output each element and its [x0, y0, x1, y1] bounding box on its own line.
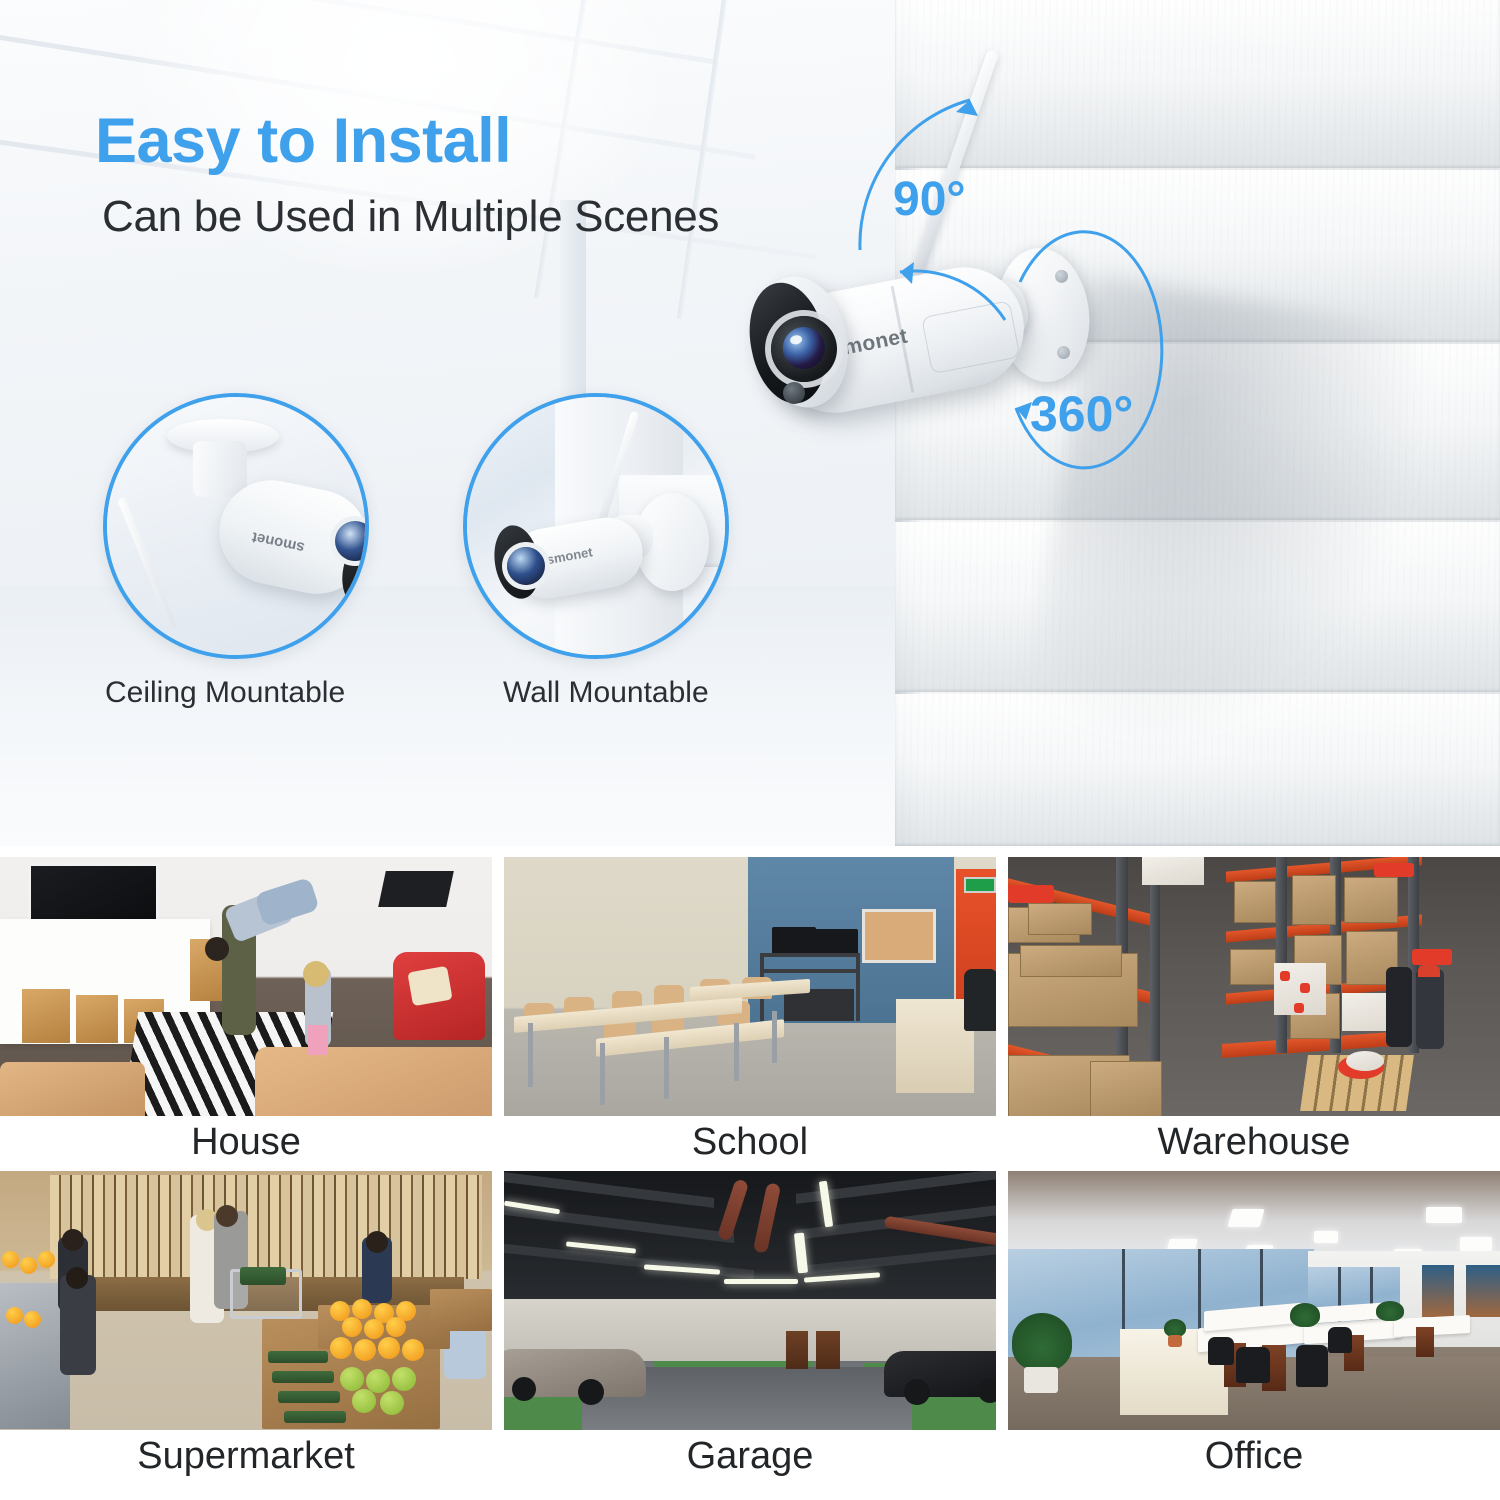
shopper-head: [366, 1231, 388, 1253]
scene-label-office: Office: [1008, 1430, 1500, 1482]
door: [786, 1331, 808, 1369]
scene-photo-school: [504, 857, 996, 1116]
office-chair: [1236, 1347, 1270, 1383]
scene-card-office: Office: [1008, 1171, 1500, 1482]
potted-plant: [1376, 1301, 1404, 1321]
scene-grid: House: [0, 846, 1500, 1500]
bulk-dispenser-wall: [50, 1175, 482, 1279]
mount-stem: [193, 441, 247, 497]
scene-photo-supermarket: [0, 1171, 492, 1430]
person-head: [205, 937, 229, 961]
door: [816, 1331, 840, 1369]
scene-photo-house: [0, 857, 492, 1116]
wall-art: [1422, 1265, 1454, 1317]
ir-sensor-icon: [783, 382, 805, 404]
child-head: [303, 961, 329, 987]
shopper-head: [66, 1267, 88, 1289]
rotation-angle-label: 360°: [1030, 385, 1133, 443]
scene-photo-office: [1008, 1171, 1500, 1430]
scene-label-school: School: [504, 1116, 996, 1168]
office-chair: [1296, 1345, 1328, 1387]
scene-label-garage: Garage: [504, 1430, 996, 1482]
lens-glass: [507, 547, 545, 585]
shopper-head: [216, 1205, 238, 1227]
office-chair: [1328, 1327, 1352, 1353]
shopper-head: [62, 1229, 84, 1251]
planter: [1024, 1367, 1058, 1393]
potted-plant: [1012, 1313, 1072, 1371]
worker: [1386, 967, 1412, 1047]
worker-cap: [1418, 965, 1440, 977]
scene-label-supermarket: Supermarket: [0, 1430, 492, 1482]
scene-label-house: House: [0, 1116, 492, 1168]
lens-glass: [335, 521, 369, 561]
sofa: [255, 1047, 492, 1116]
worker: [1416, 969, 1444, 1049]
scene-card-school: School: [504, 857, 996, 1168]
wall-art: [1466, 1265, 1500, 1317]
ottoman: [0, 1062, 145, 1116]
scene-photo-warehouse: [1008, 857, 1500, 1116]
brand-logo: smonet: [546, 544, 594, 567]
headline-block: Easy to Install Can be Used in Multiple …: [95, 110, 719, 239]
produce-bin: [430, 1289, 492, 1331]
monitor: [772, 927, 816, 955]
office-chair: [1208, 1337, 1234, 1365]
scene-card-garage: Garage: [504, 1171, 996, 1482]
child-shorts: [308, 1025, 328, 1055]
office-chair: [964, 969, 996, 1031]
ceiling-mount-inset: smonet: [103, 393, 369, 659]
podium: [896, 999, 974, 1093]
scene-label-warehouse: Warehouse: [1008, 1116, 1500, 1168]
product-feature-image: Easy to Install Can be Used in Multiple …: [0, 0, 1500, 1500]
wall-mount-inset: smonet: [463, 393, 729, 659]
scene-card-house: House: [0, 857, 492, 1168]
page-subtitle: Can be Used in Multiple Scenes: [102, 195, 719, 239]
storage-bin: [378, 871, 454, 907]
planter: [1168, 1335, 1182, 1347]
page-title: Easy to Install: [95, 110, 719, 173]
hero-section: Easy to Install Can be Used in Multiple …: [0, 0, 1500, 846]
exit-sign-icon: [964, 877, 996, 893]
brand-logo: smonet: [250, 528, 306, 556]
shopper: [60, 1275, 96, 1375]
wall-mount-caption: Wall Mountable: [503, 676, 709, 710]
tilt-angle-label: 90°: [893, 172, 966, 227]
drawer-pedestal: [1416, 1327, 1434, 1357]
potted-plant: [1290, 1303, 1320, 1327]
cork-board: [862, 909, 936, 963]
ceiling-mount-caption: Ceiling Mountable: [105, 676, 345, 710]
scene-card-supermarket: Supermarket: [0, 1171, 492, 1482]
throw-pillow: [407, 966, 452, 1006]
scene-photo-garage: [504, 1171, 996, 1430]
scene-card-warehouse: Warehouse: [1008, 857, 1500, 1168]
